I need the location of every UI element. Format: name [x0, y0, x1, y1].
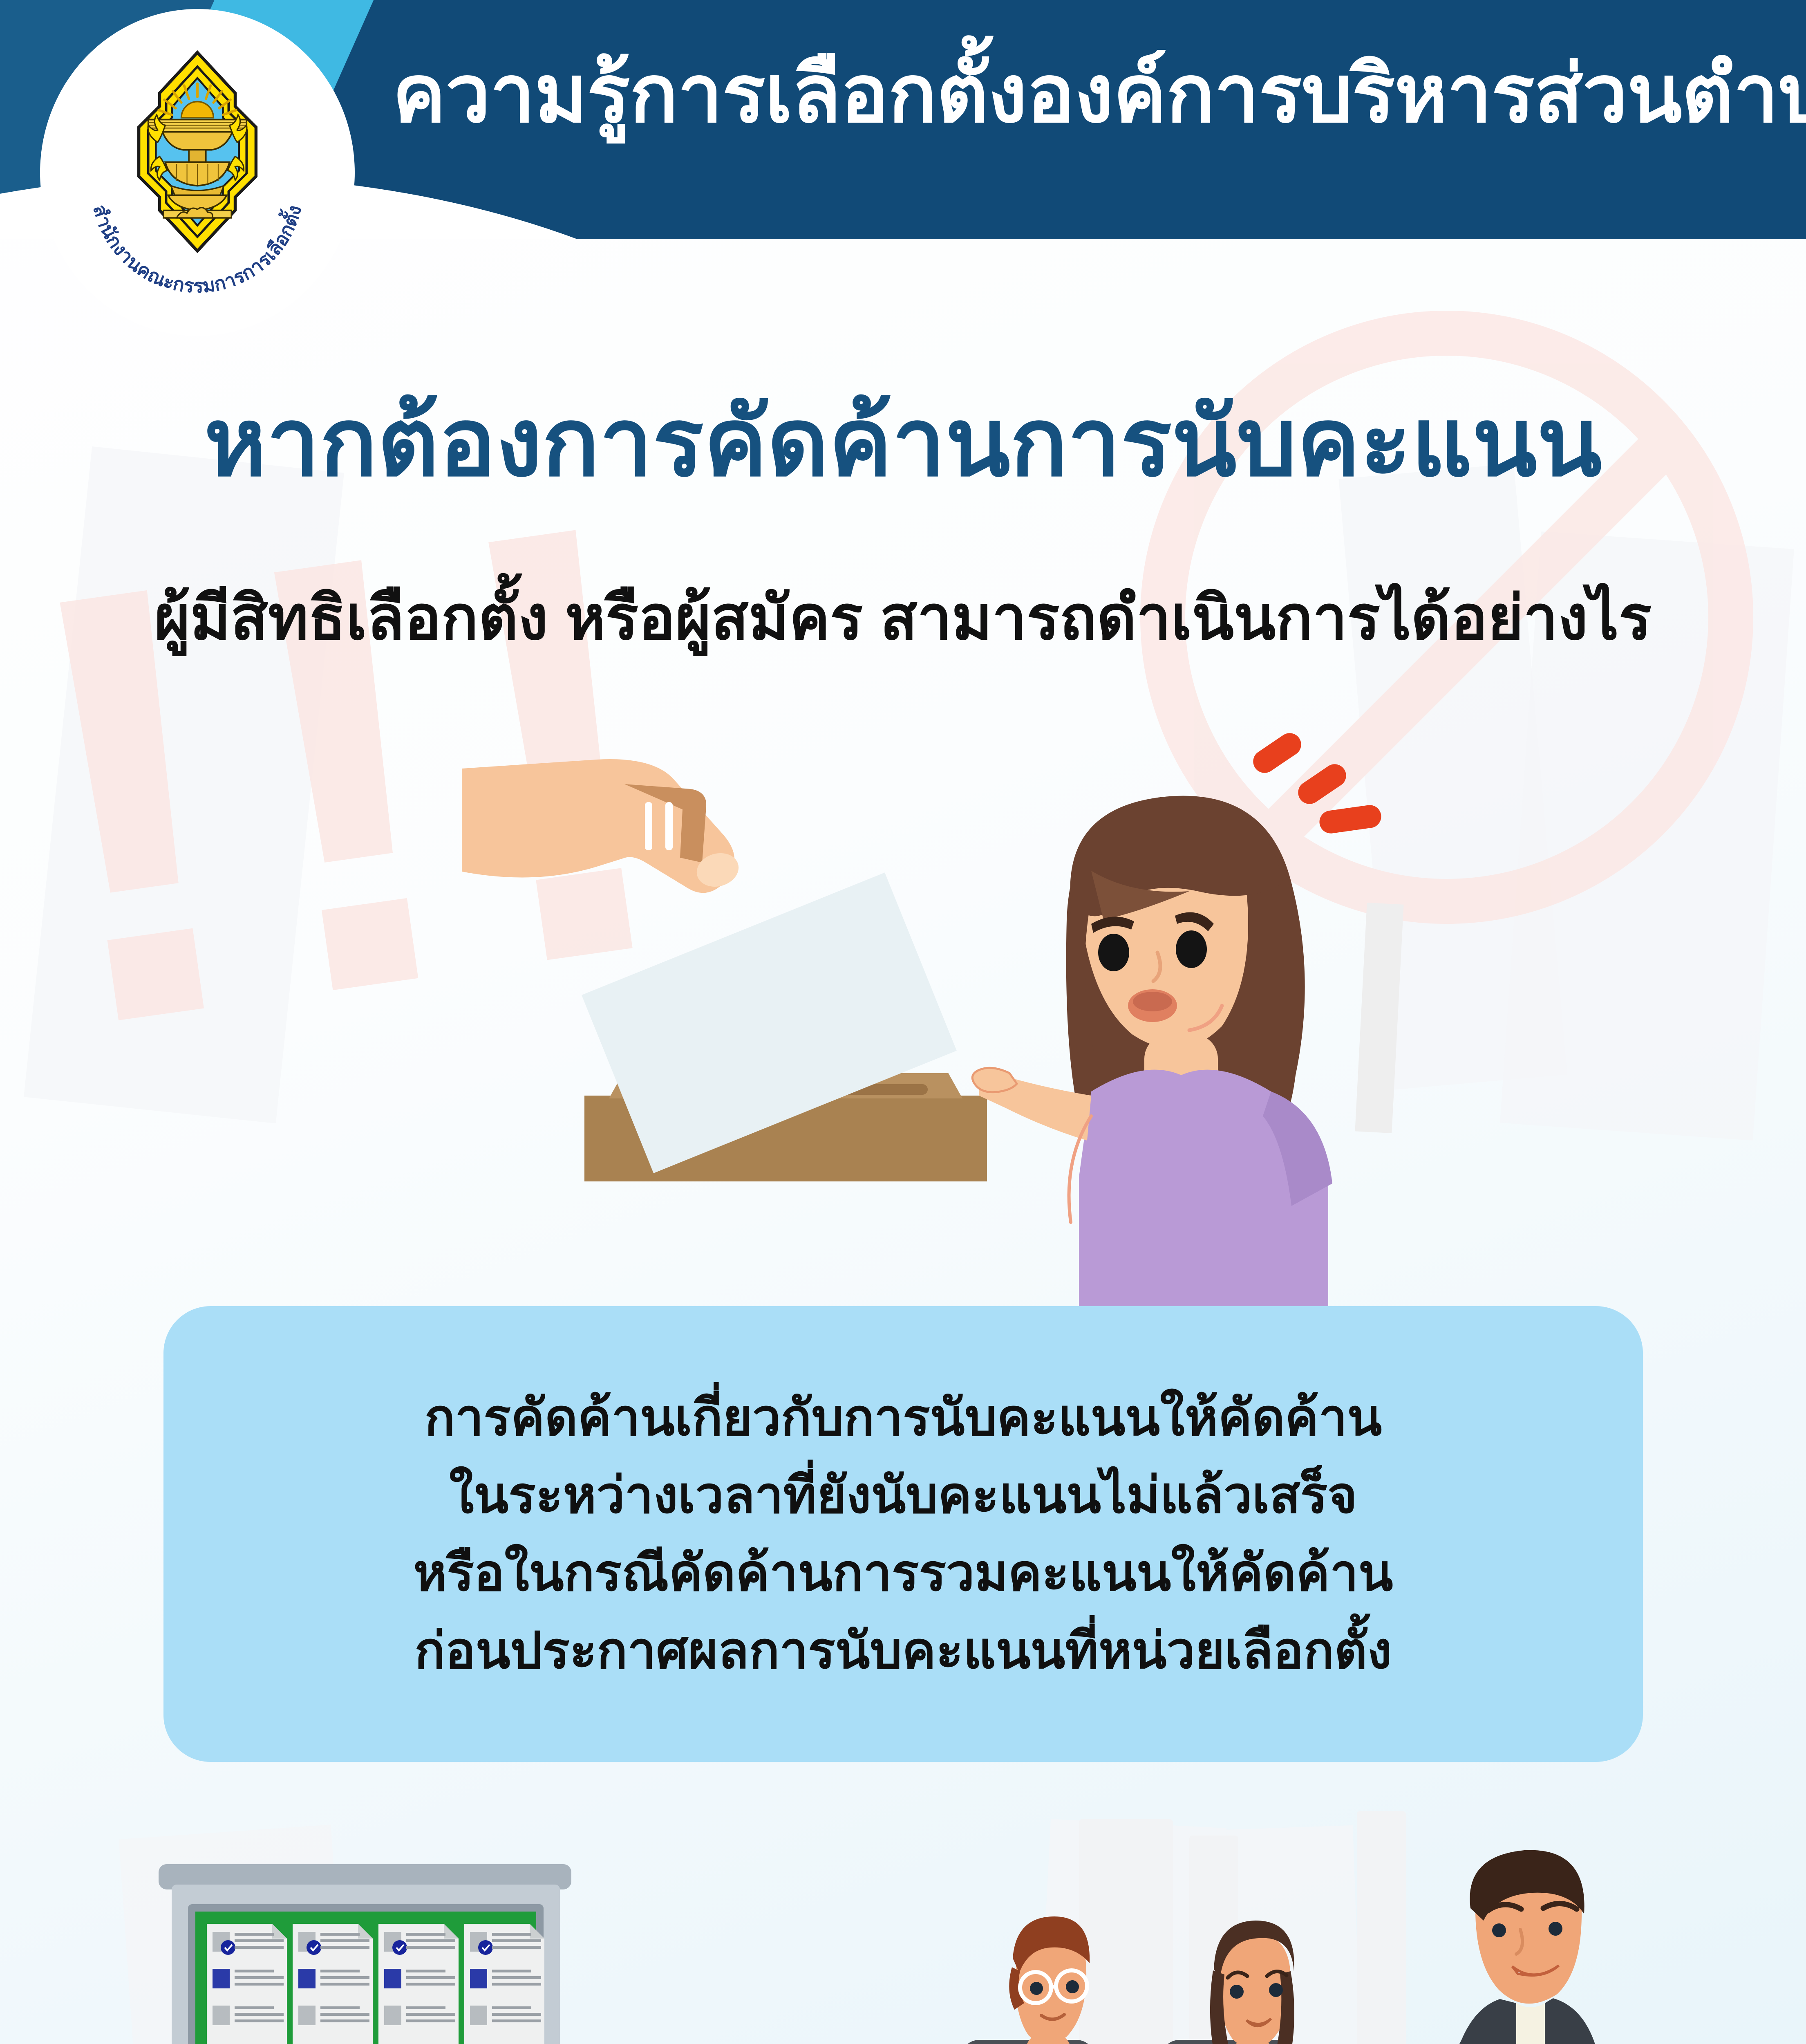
candidate-notice-board — [135, 1860, 597, 2044]
ect-emblem-svg: สำนักงานคณะกรรมการการเลือกตั้ง — [54, 21, 340, 324]
panel-line-1: การคัดค้านเกี่ยวกับการนับคะแนนให้คัดค้าน — [425, 1392, 1382, 1443]
main-heading: หากต้องการคัดค้านการนับคะแนน — [0, 390, 1806, 495]
panel-line-4: ก่อนประกาศผลการนับคะแนนที่หน่วยเลือกตั้ง — [414, 1625, 1392, 1676]
illustration-voting-scene — [0, 732, 1806, 1337]
angry-woman-illustration — [969, 748, 1467, 1320]
poster-root: !!! STOP ความรู้การเลือกตั้งองค์การบริหา… — [0, 0, 1806, 2044]
panel-line-3: หรือในกรณีคัดค้านการรวมคะแนนให้คัดค้าน — [413, 1548, 1393, 1598]
hand-dropping-ballot-icon — [462, 728, 871, 1038]
sub-heading: ผู้มีสิทธิเลือกตั้ง หรือผู้สมัคร สามารถด… — [0, 583, 1806, 653]
panel-line-2: ในระหว่างเวลาที่ยังนับคะแนนไม่แล้วเสร็จ — [449, 1470, 1357, 1521]
illustration-bottom-scene — [0, 1811, 1806, 2044]
content-panel: การคัดค้านเกี่ยวกับการนับคะแนนให้คัดค้าน… — [163, 1306, 1643, 1762]
page-title: ความรู้การเลือกตั้งองค์การบริหารส่วนตำบล — [392, 48, 1741, 139]
election-officials-illustration — [944, 1811, 1721, 2044]
ect-emblem-logo: สำนักงานคณะกรรมการการเลือกตั้ง — [40, 9, 355, 336]
